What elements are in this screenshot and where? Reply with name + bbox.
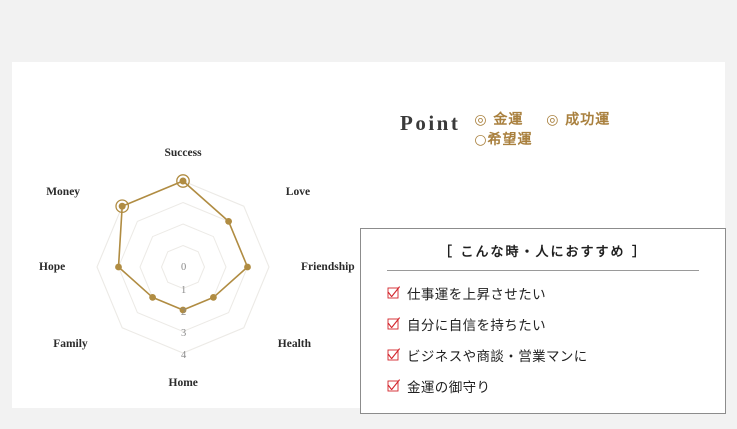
recommend-item-label: 仕事運を上昇させたい: [407, 283, 546, 303]
point-tag-list: ◎ 金運 ◎ 成功運 ○希望運: [474, 110, 610, 151]
radar-point-hope[interactable]: [115, 264, 122, 271]
radar-axis-label-friendship: Friendship: [301, 261, 355, 273]
radar-point-family[interactable]: [149, 294, 156, 301]
radar-point-health[interactable]: [210, 294, 217, 301]
radar-axis-label-family: Family: [53, 338, 88, 350]
radar-tick-label-2: 2: [181, 307, 186, 318]
checked-box-icon: [387, 379, 400, 392]
radar-axis-label-money: Money: [46, 186, 80, 198]
radar-axis-label-home: Home: [169, 377, 198, 389]
point-title: Point: [400, 110, 460, 134]
radar-axis-label-hope: Hope: [39, 261, 65, 273]
radar-point-friendship[interactable]: [244, 264, 251, 271]
radar-tick-label-3: 3: [181, 328, 186, 339]
radar-axis-label-success: Success: [165, 147, 202, 159]
checked-box-icon: [387, 317, 400, 330]
point-tag-row-2: ○希望運: [474, 130, 610, 150]
radar-point-success[interactable]: [180, 178, 187, 185]
radar-axis-label-health: Health: [278, 338, 311, 350]
radar-axis-label-love: Love: [286, 186, 310, 198]
recommend-list-item: 仕事運を上昇させたい: [387, 280, 725, 305]
radar-point-love[interactable]: [225, 218, 232, 225]
point-tag-row-1: ◎ 金運 ◎ 成功運: [474, 110, 610, 130]
recommend-box-title: ［ こんな時・人におすすめ ］: [361, 229, 725, 260]
recommend-list-item: 金運の御守り: [387, 373, 725, 398]
checked-box-icon: [387, 348, 400, 361]
radar-tick-label-1: 1: [181, 285, 186, 296]
recommend-box: ［ こんな時・人におすすめ ］ 仕事運を上昇させたい自分に自信を持ちたいビジネス…: [360, 228, 726, 414]
recommend-list-item: 自分に自信を持ちたい: [387, 311, 725, 336]
point-header: Point ◎ 金運 ◎ 成功運 ○希望運: [400, 110, 710, 151]
page-root: SuccessLoveFriendshipHealthHomeFamilyHop…: [0, 0, 737, 429]
recommend-item-label: ビジネスや商談・営業マンに: [407, 345, 588, 365]
recommend-item-label: 金運の御守り: [407, 376, 490, 396]
point-tag-kibouun: ○希望運: [474, 132, 532, 148]
point-tag-seikouun: ◎ 成功運: [546, 112, 610, 128]
checked-box-icon: [387, 286, 400, 299]
recommend-item-label: 自分に自信を持ちたい: [407, 314, 546, 334]
recommend-list-item: ビジネスや商談・営業マンに: [387, 342, 725, 367]
radar-point-money[interactable]: [119, 203, 126, 210]
point-tag-kinun: ◎ 金運: [474, 112, 523, 128]
point-section: Point ◎ 金運 ◎ 成功運 ○希望運: [390, 110, 710, 151]
radar-chart: SuccessLoveFriendshipHealthHomeFamilyHop…: [20, 90, 350, 380]
recommend-check-list: 仕事運を上昇させたい自分に自信を持ちたいビジネスや商談・営業マンに金運の御守り: [361, 271, 725, 398]
radar-tick-label-4: 4: [181, 350, 186, 361]
radar-tick-label-0: 0: [181, 262, 186, 273]
content-card: SuccessLoveFriendshipHealthHomeFamilyHop…: [12, 62, 725, 408]
